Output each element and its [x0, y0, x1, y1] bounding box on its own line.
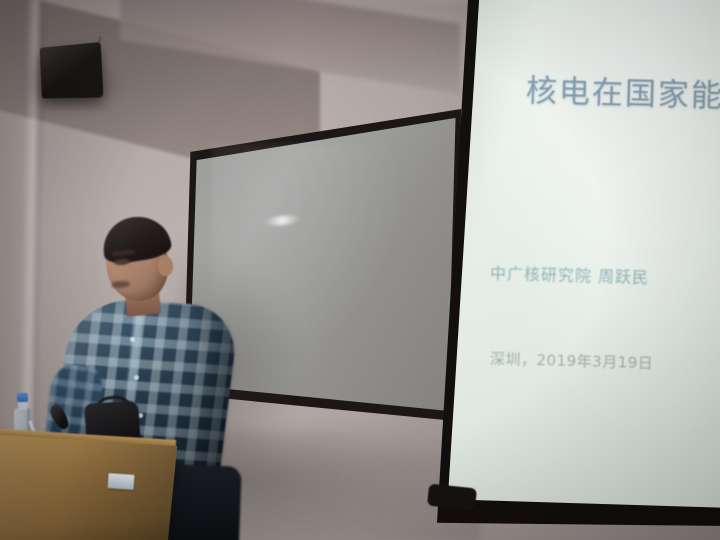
shirt-button	[130, 337, 135, 342]
slide-presenter: 中广核研究院 周跃民	[490, 260, 650, 288]
presenter-ear	[157, 254, 175, 277]
podium-name-plate	[108, 473, 135, 490]
ceiling-speaker-face	[40, 42, 104, 98]
ceiling-speaker	[40, 42, 104, 98]
water-bottle-cap	[17, 393, 28, 402]
projection-screen: 核电在国家能 中广核研究院 周跃民 深圳，2019年3月19日	[428, 0, 720, 526]
lecture-hall-photo: 核电在国家能 中广核研究院 周跃民 深圳，2019年3月19日	[0, 0, 720, 540]
podium-shading	[0, 434, 177, 540]
slide-title: 核电在国家能	[525, 65, 720, 116]
shirt-button	[134, 375, 139, 380]
projection-screen-foot	[427, 484, 477, 511]
